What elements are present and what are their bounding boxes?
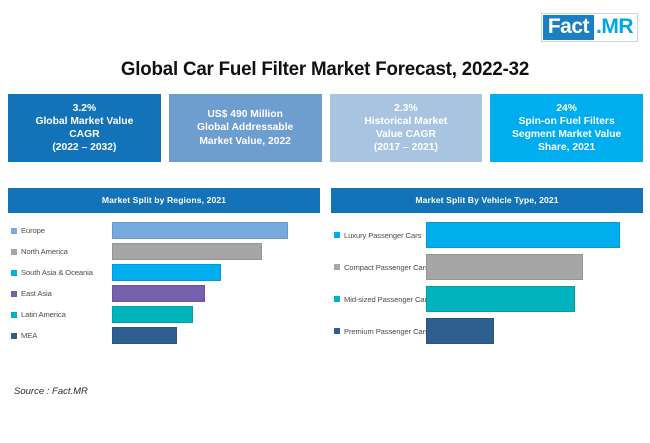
legend-label: Premium Passenger Cars	[344, 327, 429, 336]
key-stats-row: 3.2%Global Market ValueCAGR(2022 – 2032)…	[8, 94, 643, 162]
legend-swatch-icon	[334, 296, 340, 302]
bar-row: MEA	[8, 327, 320, 344]
bar-row: Compact Passenger Cars	[331, 254, 643, 280]
stat-box-spin-on-fuel-filters-share: 24%Spin-on Fuel FiltersSegment Market Va…	[490, 94, 643, 162]
legend-label: South Asia & Oceania	[21, 268, 93, 277]
bar	[426, 286, 575, 312]
stat-box-global-market-value-cagr: 3.2%Global Market ValueCAGR(2022 – 2032)	[8, 94, 161, 162]
stat-line: CAGR	[69, 128, 99, 141]
bar	[426, 222, 620, 248]
stat-line: 3.2%	[73, 102, 96, 115]
legend-item: MEA	[8, 331, 112, 340]
legend-item: Latin America	[8, 310, 112, 319]
stat-line: Share, 2021	[538, 141, 595, 154]
bar-track	[112, 222, 320, 239]
chart-title-regions: Market Split by Regions, 2021	[8, 188, 320, 213]
chart-body-regions: EuropeNorth AmericaSouth Asia & OceaniaE…	[8, 213, 320, 344]
bar-row: South Asia & Oceania	[8, 264, 320, 281]
stat-line: US$ 490 Million	[207, 108, 283, 121]
stat-box-global-addressable-market-value: US$ 490 MillionGlobal AddressableMarket …	[169, 94, 322, 162]
legend-swatch-icon	[334, 264, 340, 270]
bar	[112, 285, 205, 302]
bar	[112, 327, 177, 344]
legend-label: Compact Passenger Cars	[344, 263, 429, 272]
stat-line: Value CAGR	[376, 128, 436, 141]
chart-body-vehicle-type: Luxury Passenger CarsCompact Passenger C…	[331, 213, 643, 344]
bar-row: Mid-sized Passenger Cars	[331, 286, 643, 312]
bar-track	[112, 327, 320, 344]
legend-item: Compact Passenger Cars	[331, 263, 426, 272]
bar-row: Luxury Passenger Cars	[331, 222, 643, 248]
bar-track	[426, 222, 643, 248]
legend-swatch-icon	[11, 333, 17, 339]
stat-line: (2017 – 2021)	[374, 141, 438, 154]
legend-swatch-icon	[11, 291, 17, 297]
bar	[112, 306, 193, 323]
legend-item: East Asia	[8, 289, 112, 298]
stat-line: 24%	[556, 102, 577, 115]
legend-label: North America	[21, 247, 68, 256]
stat-line: Spin-on Fuel Filters	[519, 115, 615, 128]
bar-row: Premium Passenger Cars	[331, 318, 643, 344]
logo-mr-text: .MR	[594, 15, 636, 40]
charts-row: Market Split by Regions, 2021 EuropeNort…	[8, 188, 643, 350]
bar-track	[112, 264, 320, 281]
legend-label: Mid-sized Passenger Cars	[344, 295, 431, 304]
legend-item: North America	[8, 247, 112, 256]
legend-item: Mid-sized Passenger Cars	[331, 295, 426, 304]
chart-title-vehicle-type: Market Split By Vehicle Type, 2021	[331, 188, 643, 213]
bar	[426, 318, 494, 344]
legend-item: Europe	[8, 226, 112, 235]
stat-line: Global Market Value	[35, 115, 133, 128]
bar	[112, 243, 262, 260]
bar-row: Europe	[8, 222, 320, 239]
stat-line: Historical Market	[364, 115, 447, 128]
bar-track	[426, 254, 643, 280]
page-title: Global Car Fuel Filter Market Forecast, …	[13, 58, 637, 81]
bar-track	[426, 318, 643, 344]
legend-swatch-icon	[334, 328, 340, 334]
chart-panel-regions: Market Split by Regions, 2021 EuropeNort…	[8, 188, 320, 350]
bar	[426, 254, 583, 280]
stat-line: 2.3%	[394, 102, 417, 115]
bar	[112, 222, 288, 239]
bar-track	[112, 306, 320, 323]
chart-panel-vehicle-type: Market Split By Vehicle Type, 2021 Luxur…	[331, 188, 643, 350]
legend-item: Premium Passenger Cars	[331, 327, 426, 336]
stat-line: (2022 – 2032)	[52, 141, 116, 154]
stat-line: Global Addressable	[197, 121, 293, 134]
legend-swatch-icon	[11, 270, 17, 276]
legend-label: MEA	[21, 331, 37, 340]
legend-swatch-icon	[334, 232, 340, 238]
bar-row: East Asia	[8, 285, 320, 302]
legend-swatch-icon	[11, 312, 17, 318]
bar-track	[426, 286, 643, 312]
source-note: Source : Fact.MR	[14, 386, 88, 397]
bar	[112, 264, 221, 281]
legend-label: Latin America	[21, 310, 66, 319]
logo-fact-text: Fact	[543, 15, 594, 40]
legend-swatch-icon	[11, 249, 17, 255]
brand-logo: Fact .MR	[541, 13, 638, 42]
legend-swatch-icon	[11, 228, 17, 234]
legend-item: South Asia & Oceania	[8, 268, 112, 277]
bar-track	[112, 243, 320, 260]
stat-line: Market Value, 2022	[199, 135, 291, 148]
bar-track	[112, 285, 320, 302]
bar-row: Latin America	[8, 306, 320, 323]
bar-row: North America	[8, 243, 320, 260]
stat-line: Segment Market Value	[512, 128, 621, 141]
legend-label: East Asia	[21, 289, 52, 298]
legend-label: Luxury Passenger Cars	[344, 231, 421, 240]
legend-label: Europe	[21, 226, 45, 235]
stat-box-historical-market-value-cagr: 2.3%Historical MarketValue CAGR(2017 – 2…	[330, 94, 483, 162]
legend-item: Luxury Passenger Cars	[331, 231, 426, 240]
